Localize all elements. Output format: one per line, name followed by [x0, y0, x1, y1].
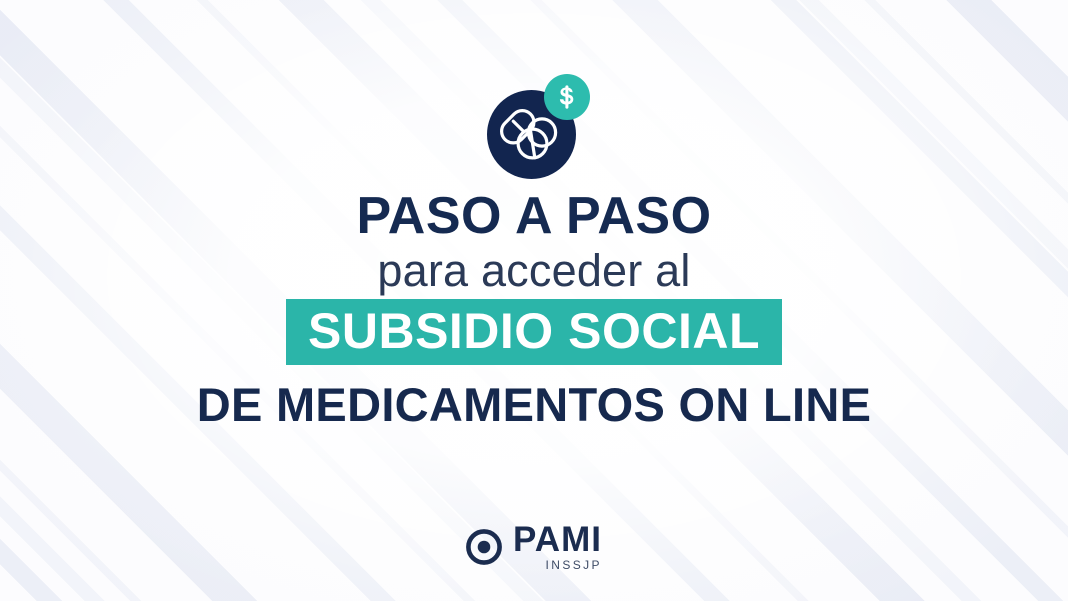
pami-brand-lockup: PAMI INSSJP [0, 522, 1068, 571]
pami-brand-inner: PAMI INSSJP [466, 522, 602, 571]
headline-highlight-row: SUBSIDIO SOCIAL [197, 299, 872, 365]
headline-line-para-acceder-al: para acceder al [197, 248, 872, 293]
pami-name: PAMI [513, 522, 602, 557]
pami-subtitle-inssjp: INSSJP [546, 559, 602, 571]
pami-wordmark: PAMI INSSJP [513, 522, 602, 571]
pami-target-icon [466, 529, 502, 565]
medication-subsidy-logo [475, 74, 593, 178]
slide-content: PASO A PASO para acceder al SUBSIDIO SOC… [0, 0, 1068, 601]
title-card-slide: PASO A PASO para acceder al SUBSIDIO SOC… [0, 0, 1068, 601]
headline-line-subsidio-social: SUBSIDIO SOCIAL [286, 299, 782, 365]
dollar-sign-icon [544, 74, 590, 120]
headline-line-de-medicamentos-on-line: DE MEDICAMENTOS ON LINE [197, 381, 872, 428]
headline-line-paso-a-paso: PASO A PASO [197, 190, 872, 242]
headline-block: PASO A PASO para acceder al SUBSIDIO SOC… [197, 190, 872, 428]
